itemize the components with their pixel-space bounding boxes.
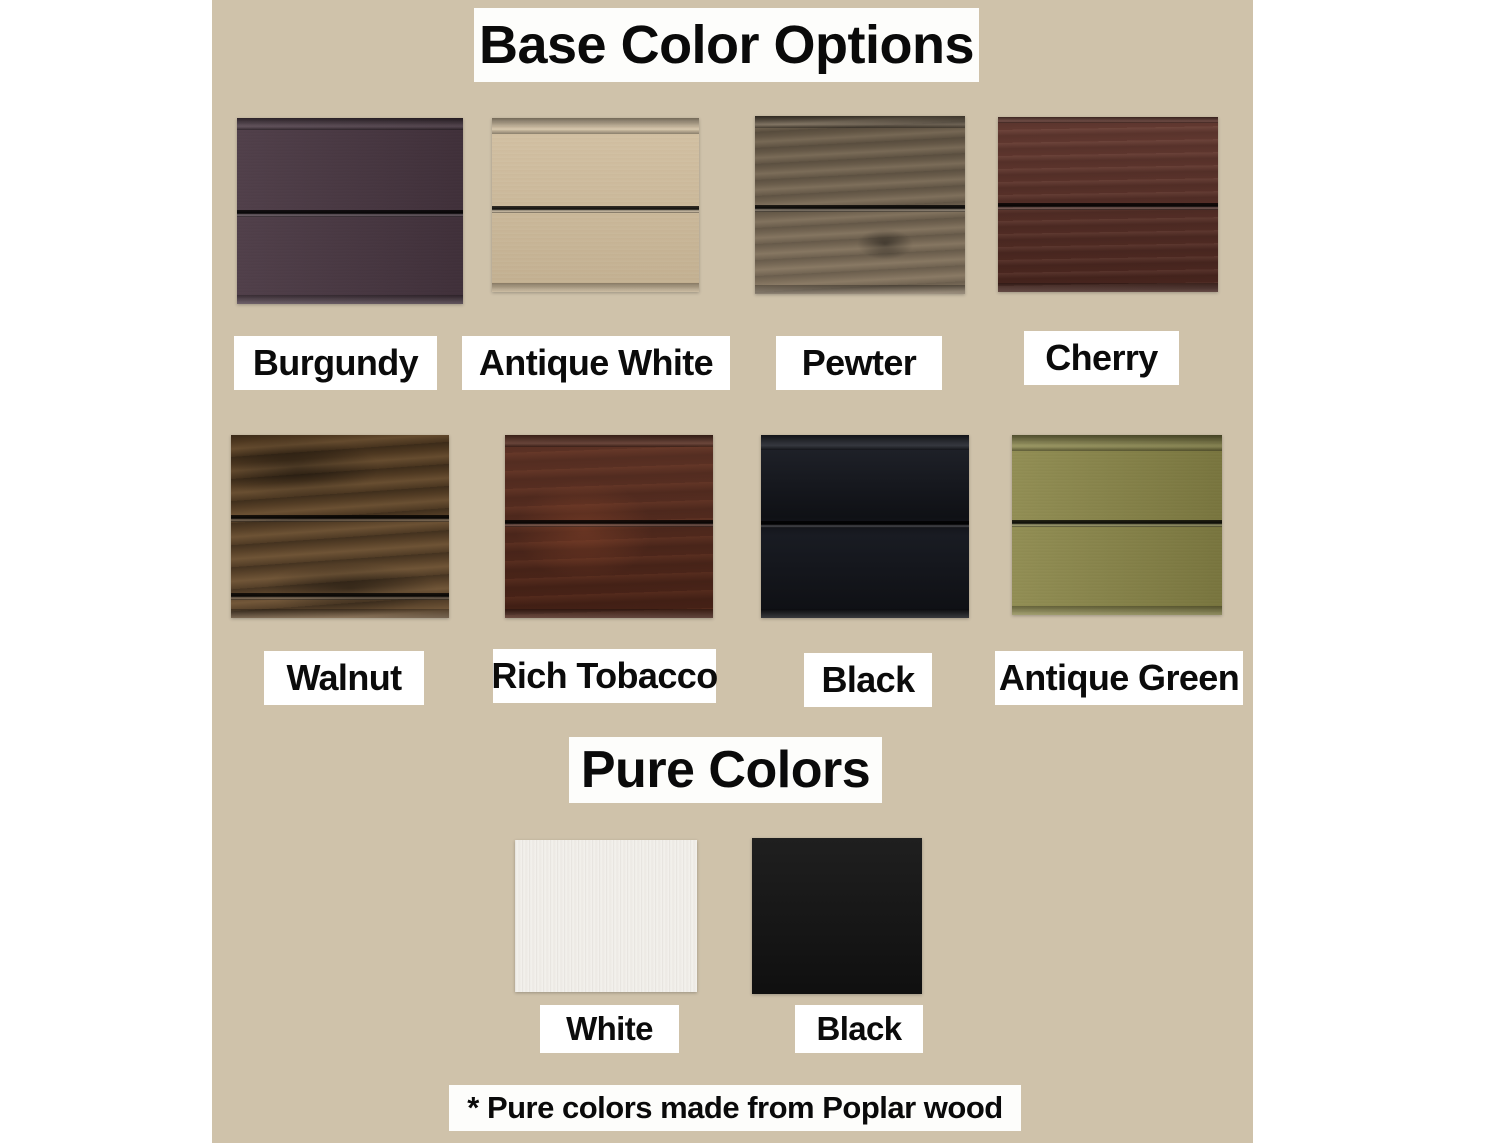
- panel-groove: [761, 521, 969, 528]
- panel-top-edge: [755, 116, 965, 128]
- swatch-image-cherry: [998, 117, 1218, 292]
- swatch-rich-tobacco[interactable]: [505, 435, 713, 618]
- swatch-pure-white[interactable]: [515, 840, 697, 992]
- panel-top-edge: [761, 435, 969, 450]
- swatch-label-rich-tobacco: Rich Tobacco: [493, 649, 716, 703]
- panel-bottom-edge: [998, 283, 1218, 292]
- panel-top-edge: [1012, 435, 1222, 451]
- swatch-walnut[interactable]: [231, 435, 449, 618]
- swatch-image-antique-white: [492, 118, 699, 292]
- swatch-label-cherry: Cherry: [1024, 331, 1179, 385]
- swatch-antique-green[interactable]: [1012, 435, 1222, 615]
- panel-bottom-edge: [1012, 606, 1222, 615]
- swatch-label-black-base: Black: [804, 653, 932, 707]
- swatch-image-rich-tobacco: [505, 435, 713, 618]
- swatch-pewter[interactable]: [755, 116, 965, 294]
- swatch-image-pewter: [755, 116, 965, 294]
- panel-groove: [998, 203, 1218, 210]
- panel-groove: [231, 515, 449, 522]
- swatch-antique-white[interactable]: [492, 118, 699, 292]
- panel-bottom-edge: [237, 295, 463, 304]
- page-title-base-colors: Base Color Options: [474, 8, 979, 82]
- swatch-label-burgundy: Burgundy: [234, 336, 437, 390]
- panel-groove: [1012, 520, 1222, 527]
- panel-top-edge: [237, 118, 463, 130]
- panel-groove: [492, 206, 699, 213]
- swatch-label-pure-white: White: [540, 1005, 679, 1053]
- swatch-image-walnut: [231, 435, 449, 618]
- panel-bottom-edge: [755, 285, 965, 294]
- color-chart-sheet: Base Color Options: [212, 0, 1253, 1143]
- swatch-label-antique-white: Antique White: [462, 336, 730, 390]
- footnote-poplar-wood: * Pure colors made from Poplar wood: [449, 1085, 1021, 1131]
- swatch-pure-black[interactable]: [752, 838, 922, 994]
- swatch-image-burgundy: [237, 118, 463, 304]
- panel-top-edge: [492, 118, 699, 134]
- swatch-cherry[interactable]: [998, 117, 1218, 292]
- wood-grain-texture: [492, 118, 699, 292]
- swatch-black-base[interactable]: [761, 435, 969, 618]
- panel-bottom-edge: [492, 283, 699, 292]
- swatch-label-antique-green: Antique Green: [995, 651, 1243, 705]
- swatch-image-black-base: [761, 435, 969, 618]
- panel-top-edge: [505, 435, 713, 447]
- swatch-label-pure-black: Black: [795, 1005, 923, 1053]
- panel-groove: [237, 210, 463, 217]
- panel-top-edge: [998, 117, 1218, 123]
- swatch-image-antique-green: [1012, 435, 1222, 615]
- page-title-pure-colors: Pure Colors: [569, 737, 882, 803]
- wood-grain-texture: [752, 838, 922, 994]
- swatch-label-walnut: Walnut: [264, 651, 424, 705]
- wood-grain-texture: [515, 840, 697, 992]
- swatch-label-pewter: Pewter: [776, 336, 942, 390]
- wood-grain-texture: [231, 435, 449, 618]
- panel-bottom-edge: [761, 609, 969, 618]
- panel-groove: [755, 205, 965, 212]
- panel-bottom-edge: [505, 609, 713, 618]
- panel-groove: [505, 520, 713, 527]
- swatch-image-pure-white: [515, 840, 697, 992]
- panel-bottom-edge: [231, 609, 449, 618]
- swatch-burgundy[interactable]: [237, 118, 463, 304]
- swatch-image-pure-black: [752, 838, 922, 994]
- panel-groove-secondary: [231, 593, 449, 600]
